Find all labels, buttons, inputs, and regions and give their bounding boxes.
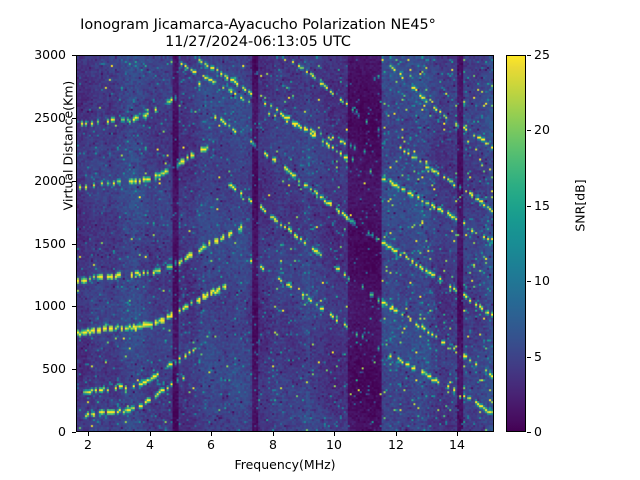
y-tick-label: 2500 xyxy=(6,112,66,125)
x-tick-label: 8 xyxy=(253,439,293,452)
x-axis-label: Frequency(MHz) xyxy=(76,457,494,472)
colorbar xyxy=(506,55,526,432)
colorbar-tick-label: 0 xyxy=(534,426,574,439)
colorbar-tick-mark xyxy=(527,130,531,131)
y-tick-label: 1000 xyxy=(6,300,66,313)
x-tick-label: 14 xyxy=(437,439,477,452)
x-tick-label: 2 xyxy=(68,439,108,452)
y-tick-label: 0 xyxy=(6,426,66,439)
x-tick-mark xyxy=(396,432,397,436)
x-tick-mark xyxy=(273,432,274,436)
colorbar-label: SNR[dB] xyxy=(573,106,588,306)
x-tick-mark xyxy=(88,432,89,436)
colorbar-tick-mark xyxy=(527,55,531,56)
y-tick-mark xyxy=(72,181,76,182)
x-tick-mark xyxy=(150,432,151,436)
y-tick-mark xyxy=(72,55,76,56)
y-tick-label: 500 xyxy=(6,363,66,376)
colorbar-tick-label: 20 xyxy=(534,124,574,137)
y-tick-label: 1500 xyxy=(6,238,66,251)
x-tick-mark xyxy=(211,432,212,436)
x-tick-mark xyxy=(457,432,458,436)
y-tick-label: 2000 xyxy=(6,175,66,188)
y-tick-mark xyxy=(72,369,76,370)
colorbar-tick-mark xyxy=(527,281,531,282)
ionogram-figure: Ionogram Jicamarca-Ayacucho Polarization… xyxy=(0,0,640,480)
ionogram-plot-area[interactable] xyxy=(76,55,494,432)
x-tick-label: 12 xyxy=(376,439,416,452)
colorbar-tick-mark xyxy=(527,357,531,358)
colorbar-tick-mark xyxy=(527,432,531,433)
y-tick-mark xyxy=(72,432,76,433)
x-tick-label: 4 xyxy=(130,439,170,452)
x-tick-label: 10 xyxy=(314,439,354,452)
colorbar-tick-label: 10 xyxy=(534,275,574,288)
y-tick-mark xyxy=(72,118,76,119)
y-tick-mark xyxy=(72,306,76,307)
colorbar-tick-label: 5 xyxy=(534,351,574,364)
colorbar-tick-label: 25 xyxy=(534,49,574,62)
y-tick-label: 3000 xyxy=(6,49,66,62)
colorbar-tick-label: 15 xyxy=(534,200,574,213)
figure-title: Ionogram Jicamarca-Ayacucho Polarization… xyxy=(0,17,516,51)
x-tick-label: 6 xyxy=(191,439,231,452)
y-axis-label: Virtual Distance(Km) xyxy=(61,0,76,296)
ionogram-heatmap xyxy=(77,56,493,431)
y-tick-mark xyxy=(72,244,76,245)
x-tick-mark xyxy=(334,432,335,436)
colorbar-tick-mark xyxy=(527,206,531,207)
